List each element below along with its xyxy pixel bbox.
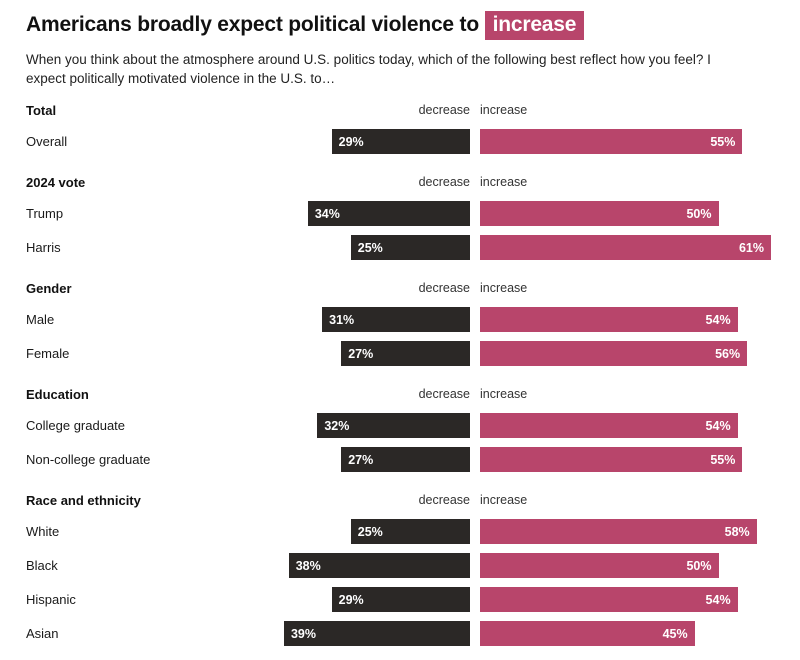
row-label: White [26, 519, 59, 544]
bar-increase: 45% [480, 621, 695, 646]
axis-label-increase: increase [480, 385, 527, 404]
axis-label-decrease: decrease [26, 101, 470, 120]
row-label: Black [26, 553, 58, 578]
bar-value-increase: 45% [663, 627, 688, 641]
bar-value-increase: 50% [686, 559, 711, 573]
title-text: Americans broadly expect political viole… [26, 13, 479, 36]
bar-value-increase: 54% [706, 313, 731, 327]
row-label: Non-college graduate [26, 447, 150, 472]
bar-increase: 54% [480, 587, 738, 612]
title-highlight-badge: increase [485, 11, 585, 40]
chart-row: White25%58% [26, 519, 774, 544]
page-title: Americans broadly expect political viole… [26, 10, 774, 40]
axis-label-increase: increase [480, 279, 527, 298]
row-label: Male [26, 307, 54, 332]
bar-decrease: 25% [351, 519, 470, 544]
bar-value-increase: 55% [710, 453, 735, 467]
chart-row: Harris25%61% [26, 235, 774, 260]
axis-label-decrease: decrease [26, 491, 470, 510]
bar-decrease: 34% [308, 201, 470, 226]
chart-group: TotaldecreaseincreaseOverall29%55% [26, 101, 774, 154]
bar-increase: 61% [480, 235, 771, 260]
chart-row: Female27%56% [26, 341, 774, 366]
axis-label-increase: increase [480, 101, 527, 120]
axis-label-decrease: decrease [26, 279, 470, 298]
bar-decrease: 29% [332, 129, 470, 154]
group-header: Educationdecreaseincrease [26, 385, 774, 404]
bar-value-increase: 54% [706, 419, 731, 433]
group-header: Totaldecreaseincrease [26, 101, 774, 120]
bar-increase: 50% [480, 201, 719, 226]
bar-value-decrease: 38% [296, 559, 321, 573]
bar-decrease: 32% [317, 413, 470, 438]
bar-decrease: 25% [351, 235, 470, 260]
chart-group: Race and ethnicitydecreaseincreaseWhite2… [26, 491, 774, 646]
bar-value-decrease: 34% [315, 207, 340, 221]
chart-row: Black38%50% [26, 553, 774, 578]
bar-increase: 55% [480, 129, 742, 154]
bar-value-increase: 58% [725, 525, 750, 539]
bar-decrease: 29% [332, 587, 470, 612]
bar-increase: 50% [480, 553, 719, 578]
chart-row: Non-college graduate27%55% [26, 447, 774, 472]
chart-row: Overall29%55% [26, 129, 774, 154]
bar-increase: 58% [480, 519, 757, 544]
bar-decrease: 31% [322, 307, 470, 332]
bar-value-increase: 54% [706, 593, 731, 607]
bar-increase: 54% [480, 413, 738, 438]
axis-label-increase: increase [480, 491, 527, 510]
axis-label-increase: increase [480, 173, 527, 192]
chart-group: 2024 votedecreaseincreaseTrump34%50%Harr… [26, 173, 774, 260]
bar-increase: 56% [480, 341, 747, 366]
bar-decrease: 38% [289, 553, 470, 578]
bar-value-decrease: 32% [324, 419, 349, 433]
group-header: Genderdecreaseincrease [26, 279, 774, 298]
bar-value-decrease: 29% [339, 135, 364, 149]
bar-value-increase: 50% [686, 207, 711, 221]
row-label: Overall [26, 129, 67, 154]
bar-decrease: 27% [341, 447, 470, 472]
axis-label-decrease: decrease [26, 173, 470, 192]
chart-row: Hispanic29%54% [26, 587, 774, 612]
chart-header: Americans broadly expect political viole… [26, 0, 774, 88]
chart-row: Asian39%45% [26, 621, 774, 646]
chart-group: EducationdecreaseincreaseCollege graduat… [26, 385, 774, 472]
bar-value-decrease: 29% [339, 593, 364, 607]
bar-increase: 54% [480, 307, 738, 332]
chart-container: Americans broadly expect political viole… [0, 0, 800, 660]
group-header: 2024 votedecreaseincrease [26, 173, 774, 192]
row-label: Asian [26, 621, 59, 646]
bar-value-decrease: 25% [358, 525, 383, 539]
bar-value-increase: 55% [710, 135, 735, 149]
row-label: College graduate [26, 413, 125, 438]
chart-row: Male31%54% [26, 307, 774, 332]
bar-increase: 55% [480, 447, 742, 472]
bar-value-increase: 61% [739, 241, 764, 255]
chart-row: College graduate32%54% [26, 413, 774, 438]
chart-row: Trump34%50% [26, 201, 774, 226]
row-label: Harris [26, 235, 61, 260]
row-label: Trump [26, 201, 63, 226]
bar-value-decrease: 27% [348, 347, 373, 361]
bar-decrease: 27% [341, 341, 470, 366]
bar-value-increase: 56% [715, 347, 740, 361]
bar-value-decrease: 39% [291, 627, 316, 641]
group-header: Race and ethnicitydecreaseincrease [26, 491, 774, 510]
row-label: Female [26, 341, 69, 366]
bar-decrease: 39% [284, 621, 470, 646]
bar-value-decrease: 25% [358, 241, 383, 255]
row-label: Hispanic [26, 587, 76, 612]
chart-subtitle: When you think about the atmosphere arou… [26, 50, 754, 88]
chart-groups: TotaldecreaseincreaseOverall29%55%2024 v… [26, 101, 774, 646]
bar-value-decrease: 31% [329, 313, 354, 327]
axis-label-decrease: decrease [26, 385, 470, 404]
bar-value-decrease: 27% [348, 453, 373, 467]
chart-group: GenderdecreaseincreaseMale31%54%Female27… [26, 279, 774, 366]
